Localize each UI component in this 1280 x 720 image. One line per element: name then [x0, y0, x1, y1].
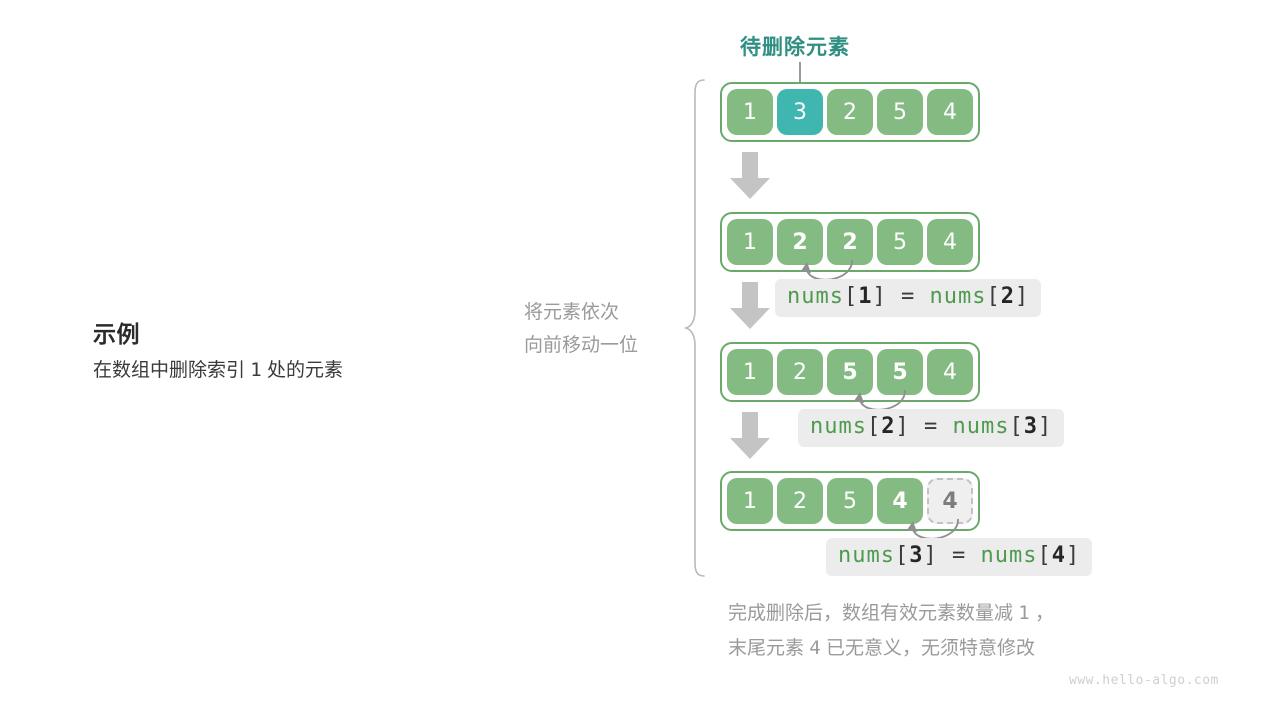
code-fn: nums [929, 284, 986, 309]
shift-note-line2: 向前移动一位 [524, 329, 684, 362]
code-index: 3 [909, 543, 923, 568]
array-cell[interactable]: 1 [727, 219, 773, 265]
code-chip-step-4: nums[3] = nums[4] [826, 538, 1092, 576]
code-fn: nums [980, 543, 1037, 568]
code-index: 3 [1024, 414, 1038, 439]
code-index: 2 [881, 414, 895, 439]
desc-text-before: 在数组中删除索引 [93, 360, 245, 381]
bottom-note-line1-a: 完成删除后，数组有效元素数量减 [728, 603, 1013, 624]
delete-target-label: 待删除元素 [740, 31, 850, 61]
bottom-note: 完成删除后，数组有效元素数量减 1 ， 末尾元素 4 已无意义，无须特意修改 [728, 596, 1054, 666]
desc-text-after: 处的元素 [267, 360, 343, 381]
down-arrow-icon [729, 152, 771, 205]
example-description: 在数组中删除索引 1 处的元素 [93, 359, 513, 383]
shift-note: 将元素依次 向前移动一位 [524, 296, 684, 363]
watermark: www.hello-algo.com [1069, 673, 1219, 688]
bottom-note-line1-b: ， [1035, 603, 1054, 624]
array-cell[interactable]: 2 [827, 89, 873, 135]
bottom-note-line2-b: 已无意义，无须特意修改 [826, 638, 1035, 659]
array-cell[interactable]: 4 [927, 349, 973, 395]
brace-bracket [684, 78, 710, 583]
code-fn: nums [952, 414, 1009, 439]
bottom-note-line2-num: 4 [809, 637, 820, 659]
page-title: 示例 [93, 322, 513, 347]
code-fn: nums [810, 414, 867, 439]
array-step-1: 1 3 2 5 4 [720, 82, 980, 142]
bottom-note-line1: 完成删除后，数组有效元素数量减 1 ， [728, 596, 1054, 631]
array-cell[interactable]: 5 [877, 219, 923, 265]
array-cell[interactable]: 1 [727, 478, 773, 524]
code-fn: nums [787, 284, 844, 309]
array-cell[interactable]: 5 [827, 478, 873, 524]
code-fn: nums [838, 543, 895, 568]
array-cell-target[interactable]: 3 [777, 89, 823, 135]
array-cell[interactable]: 5 [877, 89, 923, 135]
code-equals: = [901, 284, 915, 309]
code-chip-step-2: nums[1] = nums[2] [775, 279, 1041, 317]
code-index: 4 [1052, 543, 1066, 568]
shift-note-line1: 将元素依次 [524, 296, 684, 329]
array-cell[interactable]: 1 [727, 349, 773, 395]
diagram-canvas: 示例 在数组中删除索引 1 处的元素 将元素依次 向前移动一位 待删除元素 1 … [0, 0, 1280, 720]
left-caption: 示例 在数组中删除索引 1 处的元素 [93, 322, 513, 383]
bottom-note-line2: 末尾元素 4 已无意义，无须特意修改 [728, 631, 1054, 666]
code-equals: = [952, 543, 966, 568]
code-index: 2 [1001, 284, 1015, 309]
array-cell[interactable]: 2 [777, 478, 823, 524]
array-cell[interactable]: 1 [727, 89, 773, 135]
code-index: 1 [858, 284, 872, 309]
array-cell[interactable]: 4 [927, 219, 973, 265]
bottom-note-line2-a: 末尾元素 [728, 638, 804, 659]
down-arrow-icon [729, 282, 771, 335]
down-arrow-icon [729, 412, 771, 465]
desc-index-value: 1 [250, 359, 261, 381]
array-cell[interactable]: 2 [777, 349, 823, 395]
bottom-note-line1-num: 1 [1018, 602, 1029, 624]
array-cell[interactable]: 4 [927, 89, 973, 135]
code-equals: = [924, 414, 938, 439]
code-chip-step-3: nums[2] = nums[3] [798, 409, 1064, 447]
array-container: 1 3 2 5 4 [720, 82, 980, 142]
